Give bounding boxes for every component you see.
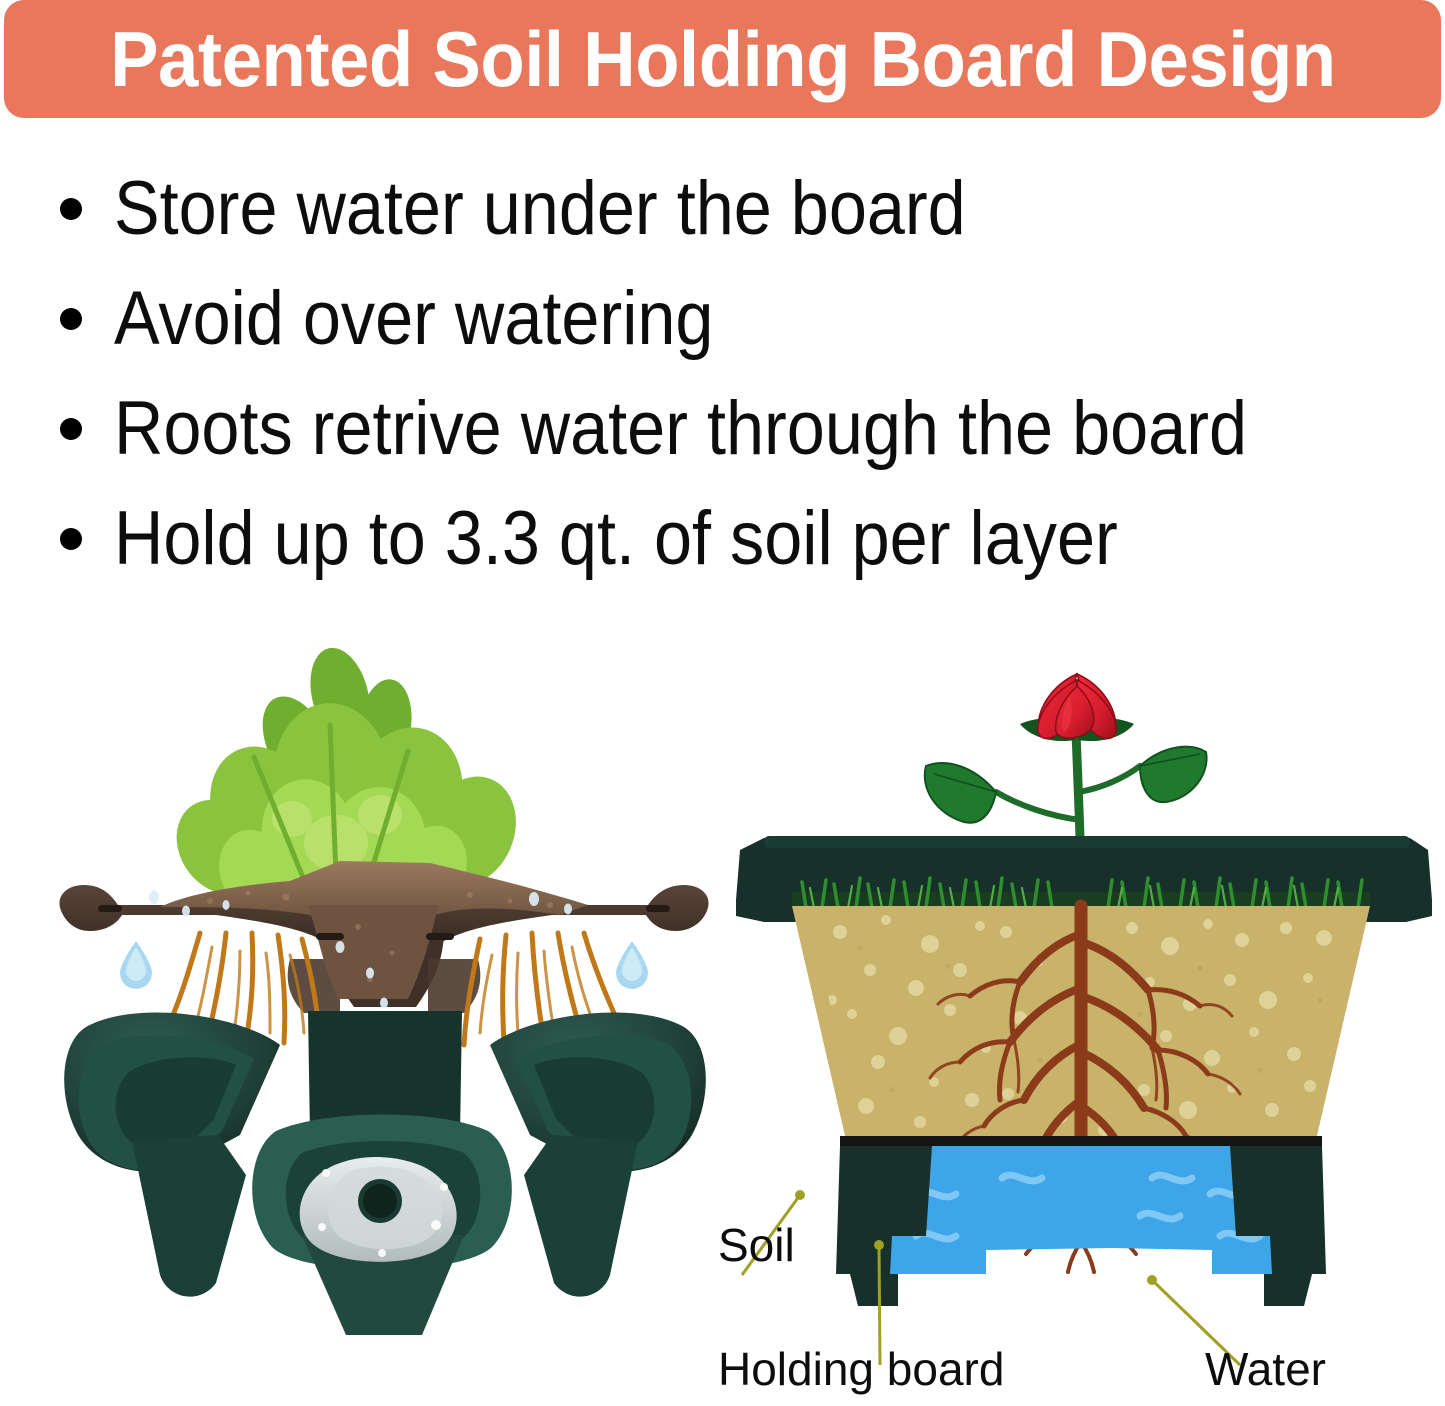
feature-text: Store water under the board — [114, 171, 966, 247]
list-item: Roots retrive water through the board — [0, 374, 1445, 484]
callout-label-soil: Soil — [718, 1222, 795, 1268]
feature-text: Avoid over watering — [114, 281, 713, 357]
feature-text: Roots retrive water through the board — [114, 391, 1247, 467]
infographic-page: Patented Soil Holding Board Design Store… — [0, 0, 1445, 1406]
figures-area — [0, 575, 1445, 1406]
bullet-dot-icon — [60, 528, 82, 550]
bullet-dot-icon — [60, 308, 82, 330]
header-banner: Patented Soil Holding Board Design — [4, 0, 1441, 118]
list-item: Avoid over watering — [0, 264, 1445, 374]
feature-list: Store water under the board Avoid over w… — [0, 130, 1445, 570]
list-item: Store water under the board — [0, 154, 1445, 264]
feature-text: Hold up to 3.3 qt. of soil per layer — [114, 501, 1118, 577]
bullet-dot-icon — [60, 418, 82, 440]
callout-leader-lines — [0, 575, 1445, 1406]
bullet-dot-icon — [60, 198, 82, 220]
callout-label-water: Water — [1205, 1346, 1326, 1392]
page-title: Patented Soil Holding Board Design — [110, 20, 1336, 98]
callout-label-holding-board: Holding board — [718, 1346, 1004, 1392]
